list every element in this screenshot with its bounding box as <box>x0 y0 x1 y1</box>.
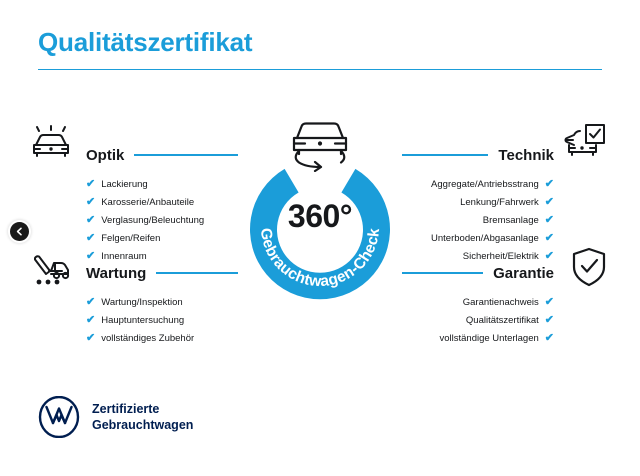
section-technik: Technik Aggregate/Antriebsstrang✔ Lenkun… <box>402 140 554 269</box>
list-item: ✔Wartung/Inspektion <box>86 297 238 308</box>
list-item: Bremsanlage✔ <box>402 215 554 226</box>
checklist: ✔Lackierung ✔Karosserie/Anbauteile ✔Verg… <box>86 179 238 262</box>
check-icon: ✔ <box>545 297 554 308</box>
list-item: ✔Lackierung <box>86 179 238 190</box>
section-title: Garantie <box>493 265 554 282</box>
footer-brand-logo: Zertifizierte Gebrauchtwagen <box>38 396 193 438</box>
check-icon: ✔ <box>545 179 554 190</box>
list-item: ✔Felgen/Reifen <box>86 233 238 244</box>
check-icon: ✔ <box>86 297 95 308</box>
check-icon: ✔ <box>545 215 554 226</box>
check-icon: ✔ <box>545 197 554 208</box>
section-title: Wartung <box>86 265 146 282</box>
footer-brand-text: Zertifizierte Gebrauchtwagen <box>92 401 193 433</box>
list-item: ✔Hauptuntersuchung <box>86 315 238 326</box>
list-item-label: Wartung/Inspektion <box>101 298 183 308</box>
section-header: Garantie <box>402 258 554 288</box>
chevron-left-icon <box>15 227 24 236</box>
checklist: ✔Wartung/Inspektion ✔Hauptuntersuchung ✔… <box>86 297 238 344</box>
list-item-label: Aggregate/Antriebsstrang <box>431 180 539 190</box>
check-icon: ✔ <box>545 233 554 244</box>
list-item: ✔Karosserie/Anbauteile <box>86 197 238 208</box>
check-icon: ✔ <box>86 233 95 244</box>
title-block: Qualitätszertifikat <box>38 28 602 70</box>
check-icon: ✔ <box>86 215 95 226</box>
list-item-label: Garantienachweis <box>463 298 539 308</box>
list-item-label: Karosserie/Anbauteile <box>101 198 194 208</box>
checklist: Garantienachweis✔ Qualitätszertifikat✔ v… <box>402 297 554 344</box>
volkswagen-logo-icon <box>38 396 80 438</box>
list-item: Aggregate/Antriebsstrang✔ <box>402 179 554 190</box>
list-item-label: Verglasung/Beleuchtung <box>101 216 204 226</box>
section-divider <box>402 272 483 274</box>
section-header: Wartung <box>86 258 238 288</box>
list-item-label: Lackierung <box>101 180 147 190</box>
list-item-label: Lenkung/Fahrwerk <box>460 198 539 208</box>
list-item-label: Qualitätszertifikat <box>466 316 539 326</box>
shield-check-icon <box>566 246 612 288</box>
list-item: ✔vollständiges Zubehör <box>86 333 238 344</box>
check-icon: ✔ <box>86 333 95 344</box>
title-divider <box>38 69 602 71</box>
section-wartung: Wartung ✔Wartung/Inspektion ✔Hauptunters… <box>86 258 238 351</box>
list-item: Unterboden/Abgasanlage✔ <box>402 233 554 244</box>
car-rotation-icon <box>279 116 361 172</box>
list-item-label: Unterboden/Abgasanlage <box>431 234 539 244</box>
section-divider <box>134 154 238 156</box>
list-item: Qualitätszertifikat✔ <box>402 315 554 326</box>
check-icon: ✔ <box>86 179 95 190</box>
car-service-icon <box>28 248 74 290</box>
section-optik: Optik ✔Lackierung ✔Karosserie/Anbauteile… <box>86 140 238 269</box>
section-title: Technik <box>498 147 554 164</box>
section-title: Optik <box>86 147 124 164</box>
list-item-label: vollständige Unterlagen <box>439 334 538 344</box>
section-divider <box>402 154 488 156</box>
list-item-label: Felgen/Reifen <box>101 234 160 244</box>
list-item: Garantienachweis✔ <box>402 297 554 308</box>
footer-line-1: Zertifizierte <box>92 401 193 417</box>
list-item: ✔Verglasung/Beleuchtung <box>86 215 238 226</box>
badge-value: 360° <box>243 198 397 235</box>
check-icon: ✔ <box>86 315 95 326</box>
checklist: Aggregate/Antriebsstrang✔ Lenkung/Fahrwe… <box>402 179 554 262</box>
check-icon: ✔ <box>86 197 95 208</box>
footer-line-2: Gebrauchtwagen <box>92 417 193 433</box>
page-title: Qualitätszertifikat <box>38 28 602 57</box>
section-header: Optik <box>86 140 238 170</box>
car-shine-icon <box>28 124 74 166</box>
section-garantie: Garantie Garantienachweis✔ Qualitätszert… <box>402 258 554 351</box>
list-item-label: Bremsanlage <box>483 216 539 226</box>
list-item: Lenkung/Fahrwerk✔ <box>402 197 554 208</box>
list-item-label: vollständiges Zubehör <box>101 334 194 344</box>
list-item-label: Hauptuntersuchung <box>101 316 184 326</box>
quality-certificate-slide: Qualitätszertifikat <box>0 0 640 476</box>
list-item: vollständige Unterlagen✔ <box>402 333 554 344</box>
check-icon: ✔ <box>545 315 554 326</box>
carousel-prev-button[interactable] <box>10 222 29 241</box>
car-checkbox-icon <box>562 120 608 162</box>
check-icon: ✔ <box>545 333 554 344</box>
section-header: Technik <box>402 140 554 170</box>
section-divider <box>156 272 238 274</box>
